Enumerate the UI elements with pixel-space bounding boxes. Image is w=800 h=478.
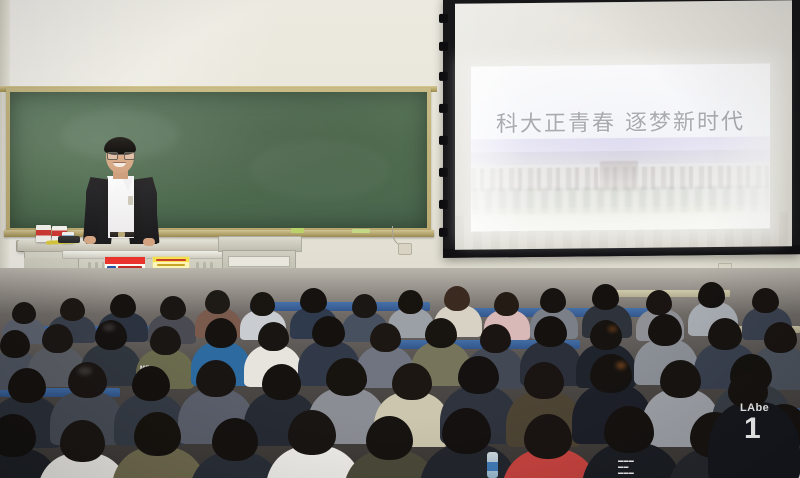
person-head [708,318,742,350]
person-head [132,366,170,401]
person-head [8,368,46,403]
sensor-box [398,243,412,255]
chalk-smudge [250,140,390,200]
person-head [12,302,36,324]
garment-number: 1 [744,414,761,444]
bottle-label [487,462,498,471]
hair-highlight [608,326,617,332]
lecture-hall-photo: 科大正青春 逐梦新时代 [0,0,800,478]
person-head [524,362,564,399]
person-head [196,360,236,397]
person-head [370,323,401,352]
blackboard-eraser [58,236,80,243]
eyeglasses-icon [107,152,133,158]
person-head [110,294,136,318]
slide-title-text: 科大正青春 逐梦新时代 [471,103,770,138]
person-head [250,292,275,316]
person-head [398,290,423,314]
person-head [134,412,181,456]
person-head [592,284,619,310]
person-head [458,356,499,394]
screen-clip [439,200,448,209]
person-head [764,322,797,353]
person-head [480,324,511,353]
person-head [646,290,672,315]
person-head [494,292,519,316]
person-head [590,320,622,350]
person-head [534,316,567,347]
person-head [150,326,181,355]
speaker-hand-left [84,236,96,244]
person-head [392,363,432,400]
person-head [540,288,566,313]
person-head [312,316,345,347]
chalk-piece [352,229,370,233]
speaker-belt-buckle [118,232,125,237]
hair-highlight [616,362,626,369]
person-head [0,330,30,358]
person-head [752,288,779,313]
lens-right [124,152,135,160]
person-head [660,360,701,398]
person-head [326,358,367,396]
person-head [590,354,632,393]
person-head [648,314,682,346]
person-head [258,322,289,351]
person-head [42,324,73,353]
person-head [698,282,725,308]
sticker-text-line [157,264,185,266]
slide-projection-washout [471,63,770,231]
person-head [205,290,230,314]
screen-clip [439,104,448,113]
screen-clip [439,42,448,51]
person-head [300,288,327,313]
garment-print-text: ▬▬▬▬▬▬▬▬ [618,458,634,476]
person-head [262,364,301,400]
screen-clip [439,136,448,145]
person-head [604,406,654,453]
screen-clip [439,72,448,81]
screen-clip [439,168,448,177]
hair-highlight [78,367,92,375]
speaker-name-badge [128,196,133,205]
speaker-presenter [84,132,158,244]
person-head [442,408,491,454]
glasses-bridge [116,154,124,155]
person-head [205,318,237,348]
person-head [352,294,377,318]
person-head [425,318,457,348]
projected-slide: 科大正青春 逐梦新时代 [471,63,770,231]
person-head [160,296,186,320]
side-cabinet-shelf [228,256,290,267]
person-head [212,418,258,461]
person-head [524,414,572,459]
sticker-header-bar [156,259,186,261]
person-head [288,410,336,455]
person-head [60,298,85,321]
person-head [444,286,470,311]
screen-clip [439,228,448,237]
speaker-hand-right [143,238,155,246]
screen-clip [439,14,448,23]
person-head [60,420,105,462]
chalk-box-red [36,225,51,242]
person-head [366,416,413,460]
hair-highlight [103,324,115,331]
student-audience: ME [0,268,800,478]
